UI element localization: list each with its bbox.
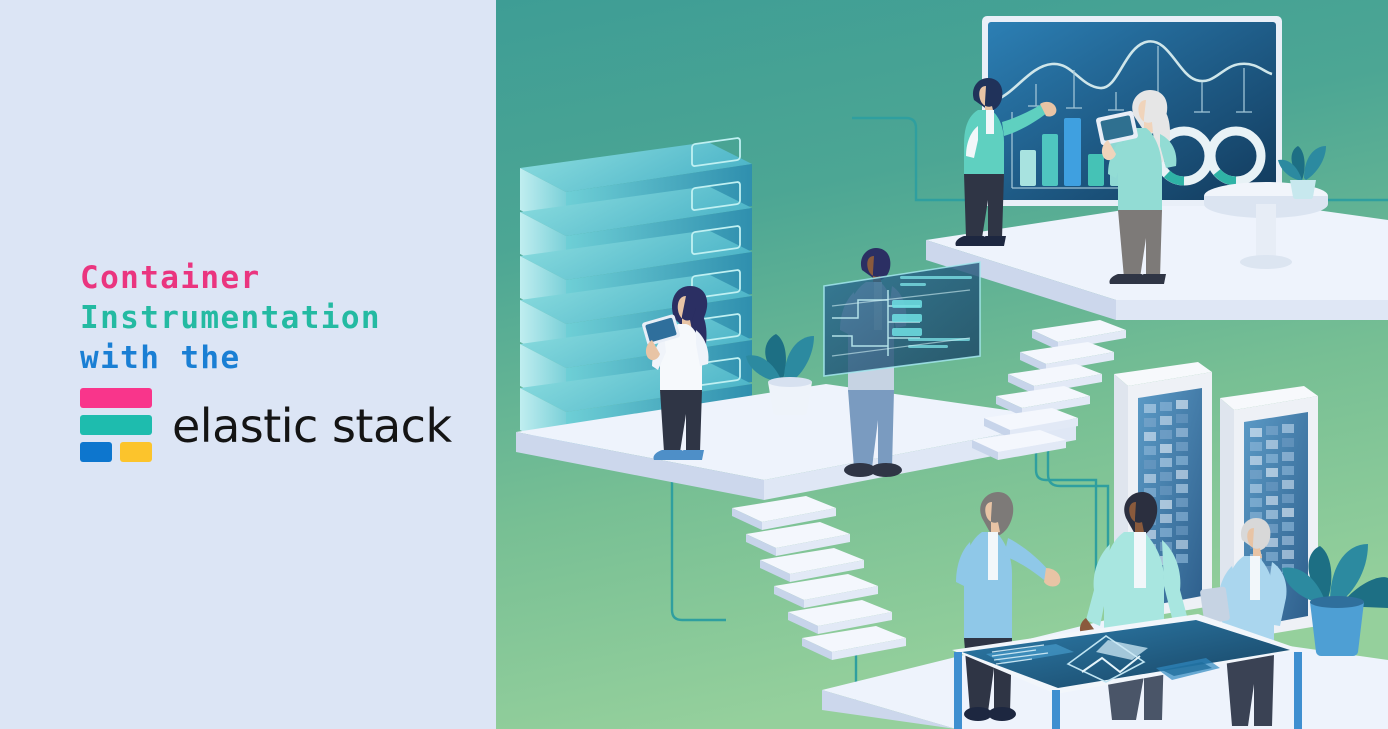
hero-illustration xyxy=(496,0,1388,729)
elastic-mark-bar-blue xyxy=(80,442,112,462)
elastic-wordmark: elastic stack xyxy=(172,403,452,449)
hologram-blocks xyxy=(892,300,922,336)
elastic-mark-bar-pink xyxy=(80,388,152,408)
title-line-1: Container xyxy=(80,258,480,298)
title-line-2: Instrumentation xyxy=(80,298,480,338)
elastic-mark-bar-teal xyxy=(80,415,152,435)
elastic-logo: elastic stack xyxy=(80,388,452,464)
illustration-svg xyxy=(496,0,1388,729)
elastic-mark-icon xyxy=(80,388,152,464)
page-title: Container Instrumentation with the xyxy=(80,258,480,378)
elastic-mark-bar-yellow xyxy=(120,442,152,462)
title-line-3: with the xyxy=(80,338,480,378)
title-panel: Container Instrumentation with the elast… xyxy=(0,0,496,729)
poster-canvas: Container Instrumentation with the elast… xyxy=(0,0,1388,729)
